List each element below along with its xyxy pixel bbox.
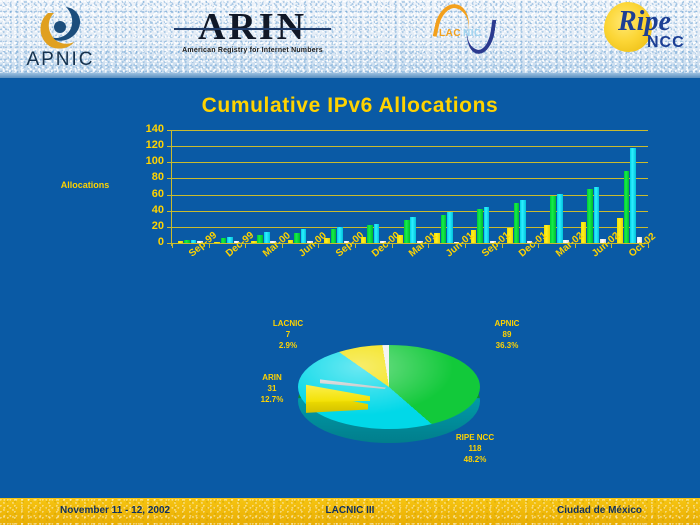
pie-label-ripe-ncc: RIPE NCC11848.2% xyxy=(425,432,525,465)
bar-ripe-ncc-dec-00 xyxy=(374,224,380,243)
chart-gridline xyxy=(172,178,648,179)
header-band: APNIC ARIN American Registry for Interne… xyxy=(0,0,700,78)
chart-gridline xyxy=(172,146,648,147)
pie-label-apnic: APNIC8936.3% xyxy=(462,318,552,351)
pie-label-value: 89 xyxy=(462,329,552,340)
chart-y-axis-label: Allocations xyxy=(40,180,130,190)
chart-y-tick-label: 40 xyxy=(130,204,164,216)
chart-x-tick-mark xyxy=(245,243,246,248)
pie-label-percent: 2.9% xyxy=(248,340,328,351)
chart-x-tick-mark xyxy=(611,243,612,248)
chart-y-tick-mark xyxy=(167,130,172,131)
pie-label-arin: ARIN3112.7% xyxy=(232,372,312,405)
chart-gridline xyxy=(172,162,648,163)
bar-apnic-mar-00 xyxy=(257,235,263,243)
chart-gridline xyxy=(172,130,648,131)
bar-ripe-ncc-mar-02 xyxy=(557,194,563,243)
chart-x-tick-mark xyxy=(392,243,393,248)
chart-gridline xyxy=(172,211,648,212)
chart-x-tick-mark xyxy=(465,243,466,248)
bar-apnic-dec-00 xyxy=(367,225,373,243)
arin-logo: ARIN American Registry for Internet Numb… xyxy=(170,5,335,60)
apnic-logo: APNIC xyxy=(8,5,108,73)
chart-x-tick-mark xyxy=(575,243,576,248)
bar-ripe-ncc-mar-01 xyxy=(410,217,416,243)
chart-y-tick-label: 60 xyxy=(130,188,164,200)
chart-x-tick-mark xyxy=(209,243,210,248)
chart-x-tick-mark xyxy=(428,243,429,248)
chart-x-tick-mark xyxy=(648,243,649,248)
pie-label-percent: 48.2% xyxy=(425,454,525,465)
bar-ripe-ncc-sep-01 xyxy=(484,207,490,243)
bar-ripe-ncc-oct-02 xyxy=(630,148,636,243)
bar-apnic-sep-99 xyxy=(184,240,190,243)
chart-y-tick-mark xyxy=(167,211,172,212)
pie-label-percent: 36.3% xyxy=(462,340,552,351)
pie-label-name: LACNIC xyxy=(248,318,328,329)
ripe-ncc-logo: Ripe NCC xyxy=(600,2,690,64)
bar-apnic-jun-00 xyxy=(294,233,300,243)
arin-logo-text: ARIN xyxy=(170,5,335,49)
chart-title: Cumulative IPv6 Allocations xyxy=(0,94,700,118)
bar-apnic-oct-02 xyxy=(624,171,630,243)
chart-y-tick-mark xyxy=(167,227,172,228)
bar-chart-plot-area xyxy=(172,130,648,243)
bar-apnic-mar-02 xyxy=(550,196,556,243)
bar-ripe-ncc-jun-00 xyxy=(301,229,307,243)
chart-y-tick-mark xyxy=(167,195,172,196)
lacnic-logo-text-lac: LAC xyxy=(439,28,461,39)
bar-ripe-ncc-jun-01 xyxy=(447,212,453,243)
bar-apnic-sep-00 xyxy=(331,229,337,243)
pie-label-name: ARIN xyxy=(232,372,312,383)
pie-label-lacnic: LACNIC72.9% xyxy=(248,318,328,351)
pie-label-value: 7 xyxy=(248,329,328,340)
bar-apnic-dec-01 xyxy=(514,203,520,243)
pie-label-value: 118 xyxy=(425,443,525,454)
bar-apnic-jun-02 xyxy=(587,189,593,243)
chart-x-tick-mark xyxy=(318,243,319,248)
bar-ripe-ncc-dec-99 xyxy=(227,237,233,243)
lacnic-logo-text-nic: NIC xyxy=(463,28,482,39)
apnic-swirl-icon xyxy=(36,5,86,51)
bar-ripe-ncc-jun-02 xyxy=(594,187,600,243)
pie-3d-top-surface xyxy=(298,345,480,429)
chart-y-tick-label: 80 xyxy=(130,171,164,183)
pie-label-name: APNIC xyxy=(462,318,552,329)
arin-logo-subtitle: American Registry for Internet Numbers xyxy=(170,47,335,54)
chart-y-tick-label: 20 xyxy=(130,220,164,232)
apnic-logo-text: APNIC xyxy=(13,49,108,71)
footer-band: November 11 - 12, 2002 LACNIC III Ciudad… xyxy=(0,498,700,525)
chart-x-tick-mark xyxy=(502,243,503,248)
chart-y-tick-label: 140 xyxy=(130,123,164,135)
bar-arin-dec-99 xyxy=(214,242,220,244)
ncc-logo-text: NCC xyxy=(647,34,685,52)
chart-x-tick-mark xyxy=(538,243,539,248)
bar-apnic-dec-99 xyxy=(221,238,227,243)
pie-label-value: 31 xyxy=(232,383,312,394)
chart-y-tick-mark xyxy=(167,178,172,179)
bar-apnic-sep-01 xyxy=(477,209,483,243)
chart-x-tick-mark xyxy=(282,243,283,248)
bar-apnic-jun-01 xyxy=(441,215,447,243)
bar-ripe-ncc-sep-00 xyxy=(337,227,343,243)
chart-y-tick-mark xyxy=(167,146,172,147)
chart-x-tick-mark xyxy=(172,243,173,248)
footer-location: Ciudad de México xyxy=(557,505,642,516)
bar-apnic-mar-01 xyxy=(404,220,410,243)
chart-x-tick-mark xyxy=(355,243,356,248)
pie-label-percent: 12.7% xyxy=(232,394,312,405)
bar-arin-sep-99 xyxy=(178,241,184,243)
chart-y-tick-mark xyxy=(167,162,172,163)
bar-ripe-ncc-dec-01 xyxy=(520,200,526,243)
lacnic-logo: LAC NIC xyxy=(430,2,500,60)
chart-y-tick-label: 100 xyxy=(130,155,164,167)
pie-label-name: RIPE NCC xyxy=(425,432,525,443)
slide-canvas: APNIC ARIN American Registry for Interne… xyxy=(0,0,700,525)
chart-y-tick-label: 0 xyxy=(130,236,164,248)
bar-ripe-ncc-mar-00 xyxy=(264,232,270,243)
chart-gridline xyxy=(172,195,648,196)
chart-y-tick-label: 120 xyxy=(130,139,164,151)
arin-logo-rule xyxy=(174,28,331,30)
